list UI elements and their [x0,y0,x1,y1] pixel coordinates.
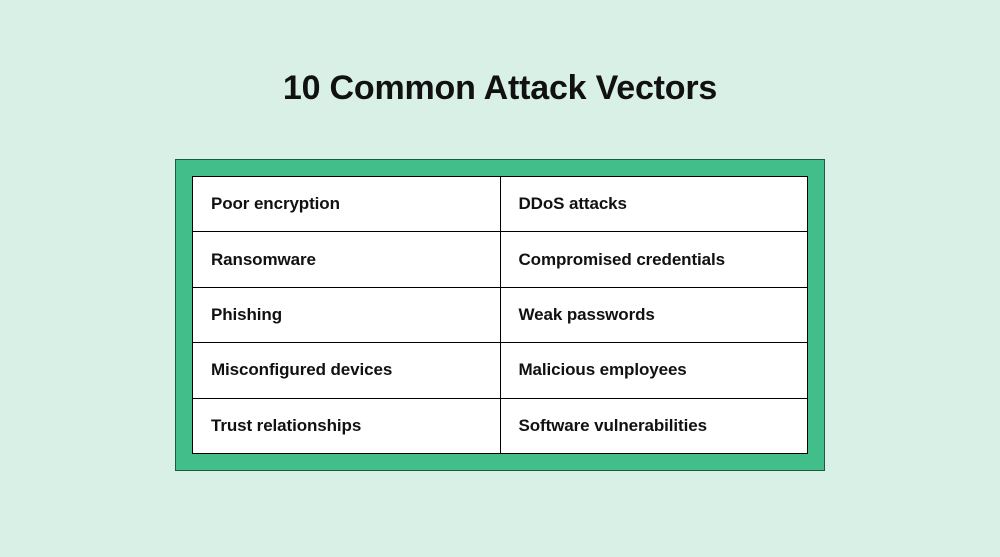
table-row: Ransomware Compromised credentials [193,232,808,287]
attack-vector-cell: Phishing [193,287,501,342]
attack-vector-cell: DDoS attacks [500,177,808,232]
attack-vector-cell: Software vulnerabilities [500,398,808,453]
attack-vector-cell: Trust relationships [193,398,501,453]
infographic-page: 10 Common Attack Vectors Poor encryption… [0,0,1000,557]
table-row: Trust relationships Software vulnerabili… [193,398,808,453]
table-row: Phishing Weak passwords [193,287,808,342]
attack-vector-cell: Poor encryption [193,177,501,232]
attack-vector-cell: Misconfigured devices [193,343,501,398]
attack-vector-cell: Malicious employees [500,343,808,398]
page-title: 10 Common Attack Vectors [0,66,1000,110]
attack-vectors-table: Poor encryption DDoS attacks Ransomware … [192,176,808,454]
attack-vector-cell: Compromised credentials [500,232,808,287]
attack-vector-cell: Ransomware [193,232,501,287]
table-frame: Poor encryption DDoS attacks Ransomware … [175,159,825,471]
table-row: Misconfigured devices Malicious employee… [193,343,808,398]
attack-vector-cell: Weak passwords [500,287,808,342]
table-row: Poor encryption DDoS attacks [193,177,808,232]
